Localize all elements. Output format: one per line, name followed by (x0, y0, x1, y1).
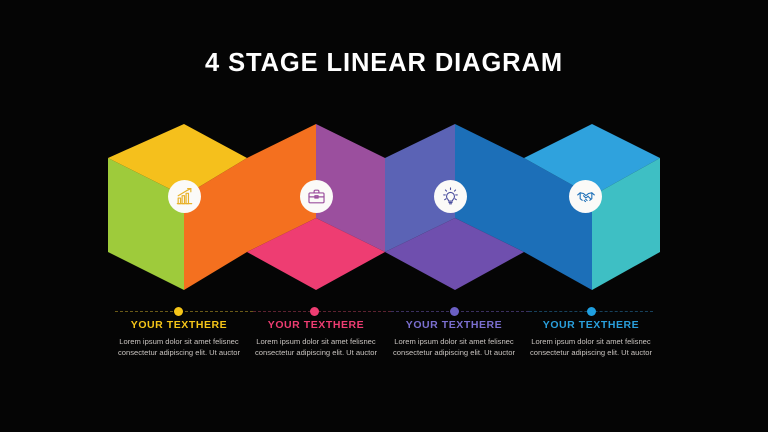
stage-3-heading: YOUR TEXTHERE (384, 319, 524, 331)
slide-canvas: 4 STAGE LINEAR DIAGRAM (0, 0, 768, 432)
stage-1-marker-dot[interactable] (174, 307, 183, 316)
stage-2-heading: YOUR TEXTHERE (246, 319, 386, 331)
stage-3-icon-badge[interactable] (434, 180, 467, 213)
stage-4-icon-badge[interactable] (569, 180, 602, 213)
stage-1-icon-badge[interactable] (168, 180, 201, 213)
stage-4-legend-column: YOUR TEXTHERE Lorem ipsum dolor sit amet… (521, 319, 661, 359)
lightbulb-idea-icon (441, 187, 460, 206)
stage-4-heading: YOUR TEXTHERE (521, 319, 661, 331)
stage-4-description: Lorem ipsum dolor sit amet felisnec cons… (521, 336, 661, 359)
bar-chart-growth-icon (175, 187, 194, 206)
stage-2-marker-dot[interactable] (310, 307, 319, 316)
legend-section: YOUR TEXTHERE Lorem ipsum dolor sit amet… (0, 305, 768, 395)
handshake-icon (576, 187, 596, 207)
stage-3-description: Lorem ipsum dolor sit amet felisnec cons… (384, 336, 524, 359)
stage-3-legend-column: YOUR TEXTHERE Lorem ipsum dolor sit amet… (384, 319, 524, 359)
briefcase-icon (307, 187, 326, 206)
dash-connector-3 (391, 311, 529, 312)
stage-2-icon-badge[interactable] (300, 180, 333, 213)
stage-3-marker-dot[interactable] (450, 307, 459, 316)
stage-2-legend-column: YOUR TEXTHERE Lorem ipsum dolor sit amet… (246, 319, 386, 359)
dash-connector-2 (253, 311, 391, 312)
dash-connector-1 (115, 311, 253, 312)
stage-1-legend-column: YOUR TEXTHERE Lorem ipsum dolor sit amet… (109, 319, 249, 359)
stage-1-description: Lorem ipsum dolor sit amet felisnec cons… (109, 336, 249, 359)
stage-1-heading: YOUR TEXTHERE (109, 319, 249, 331)
stage-2-description: Lorem ipsum dolor sit amet felisnec cons… (246, 336, 386, 359)
stage-4-marker-dot[interactable] (587, 307, 596, 316)
